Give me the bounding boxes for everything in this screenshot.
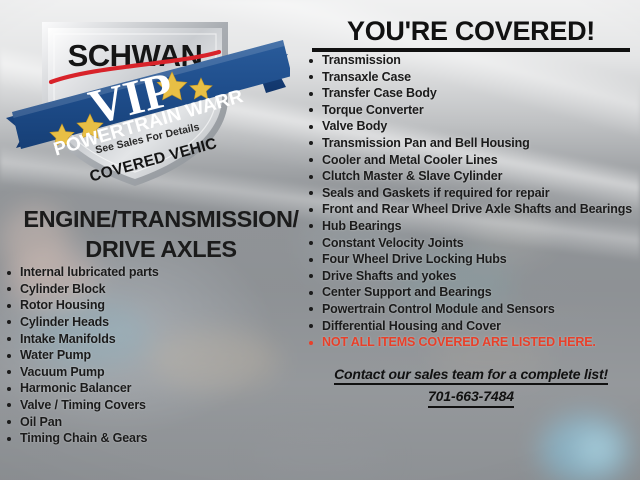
list-item: Powertrain Control Module and Sensors: [308, 301, 634, 318]
engine-section: ENGINE/TRANSMISSION/ DRIVE AXLES Interna…: [6, 204, 316, 447]
list-item: Cylinder Block: [6, 281, 316, 298]
list-item: Transmission Pan and Bell Housing: [308, 135, 634, 152]
covered-items-list: Transmission Transaxle Case Transfer Cas…: [308, 52, 634, 351]
list-item: Rotor Housing: [6, 297, 316, 314]
list-item: Cylinder Heads: [6, 314, 316, 331]
list-item: Cooler and Metal Cooler Lines: [308, 152, 634, 169]
section-title: ENGINE/TRANSMISSION/ DRIVE AXLES: [6, 204, 316, 264]
contact-phone-number[interactable]: 701-663-7484: [428, 388, 514, 408]
list-item: Constant Velocity Joints: [308, 235, 634, 252]
list-item: Transmission: [308, 52, 634, 69]
warranty-flyer: SCHWAN VIP POWERTRAIN WARRANTY: [0, 0, 640, 480]
list-item: Hub Bearings: [308, 218, 634, 235]
page-title: YOU'RE COVERED!: [312, 18, 630, 52]
list-item: Center Support and Bearings: [308, 284, 634, 301]
list-item: Oil Pan: [6, 414, 316, 431]
list-item: Seals and Gaskets if required for repair: [308, 185, 634, 202]
list-item: Timing Chain & Gears: [6, 430, 316, 447]
contact-block: Contact our sales team for a complete li…: [308, 366, 634, 408]
list-item: Harmonic Balancer: [6, 380, 316, 397]
list-item: Intake Manifolds: [6, 331, 316, 348]
list-item: Internal lubricated parts: [6, 264, 316, 281]
list-item-disclaimer: NOT ALL ITEMS COVERED ARE LISTED HERE.: [308, 334, 634, 351]
list-item: Four Wheel Drive Locking Hubs: [308, 251, 634, 268]
list-item: Torque Converter: [308, 102, 634, 119]
schwan-vip-warranty-logo: SCHWAN VIP POWERTRAIN WARRANTY: [4, 6, 290, 196]
list-item: Water Pump: [6, 347, 316, 364]
engine-items-list: Internal lubricated parts Cylinder Block…: [6, 264, 316, 447]
list-item: Vacuum Pump: [6, 364, 316, 381]
list-item: Transaxle Case: [308, 69, 634, 86]
list-item: Valve / Timing Covers: [6, 397, 316, 414]
contact-prompt: Contact our sales team for a complete li…: [334, 366, 608, 386]
list-item: Differential Housing and Cover: [308, 318, 634, 335]
list-item: Drive Shafts and yokes: [308, 268, 634, 285]
list-item: Valve Body: [308, 118, 634, 135]
covered-items-section: YOU'RE COVERED! Transmission Transaxle C…: [308, 18, 634, 408]
list-item: Transfer Case Body: [308, 85, 634, 102]
list-item: Front and Rear Wheel Drive Axle Shafts a…: [308, 201, 634, 218]
list-item: Clutch Master & Slave Cylinder: [308, 168, 634, 185]
